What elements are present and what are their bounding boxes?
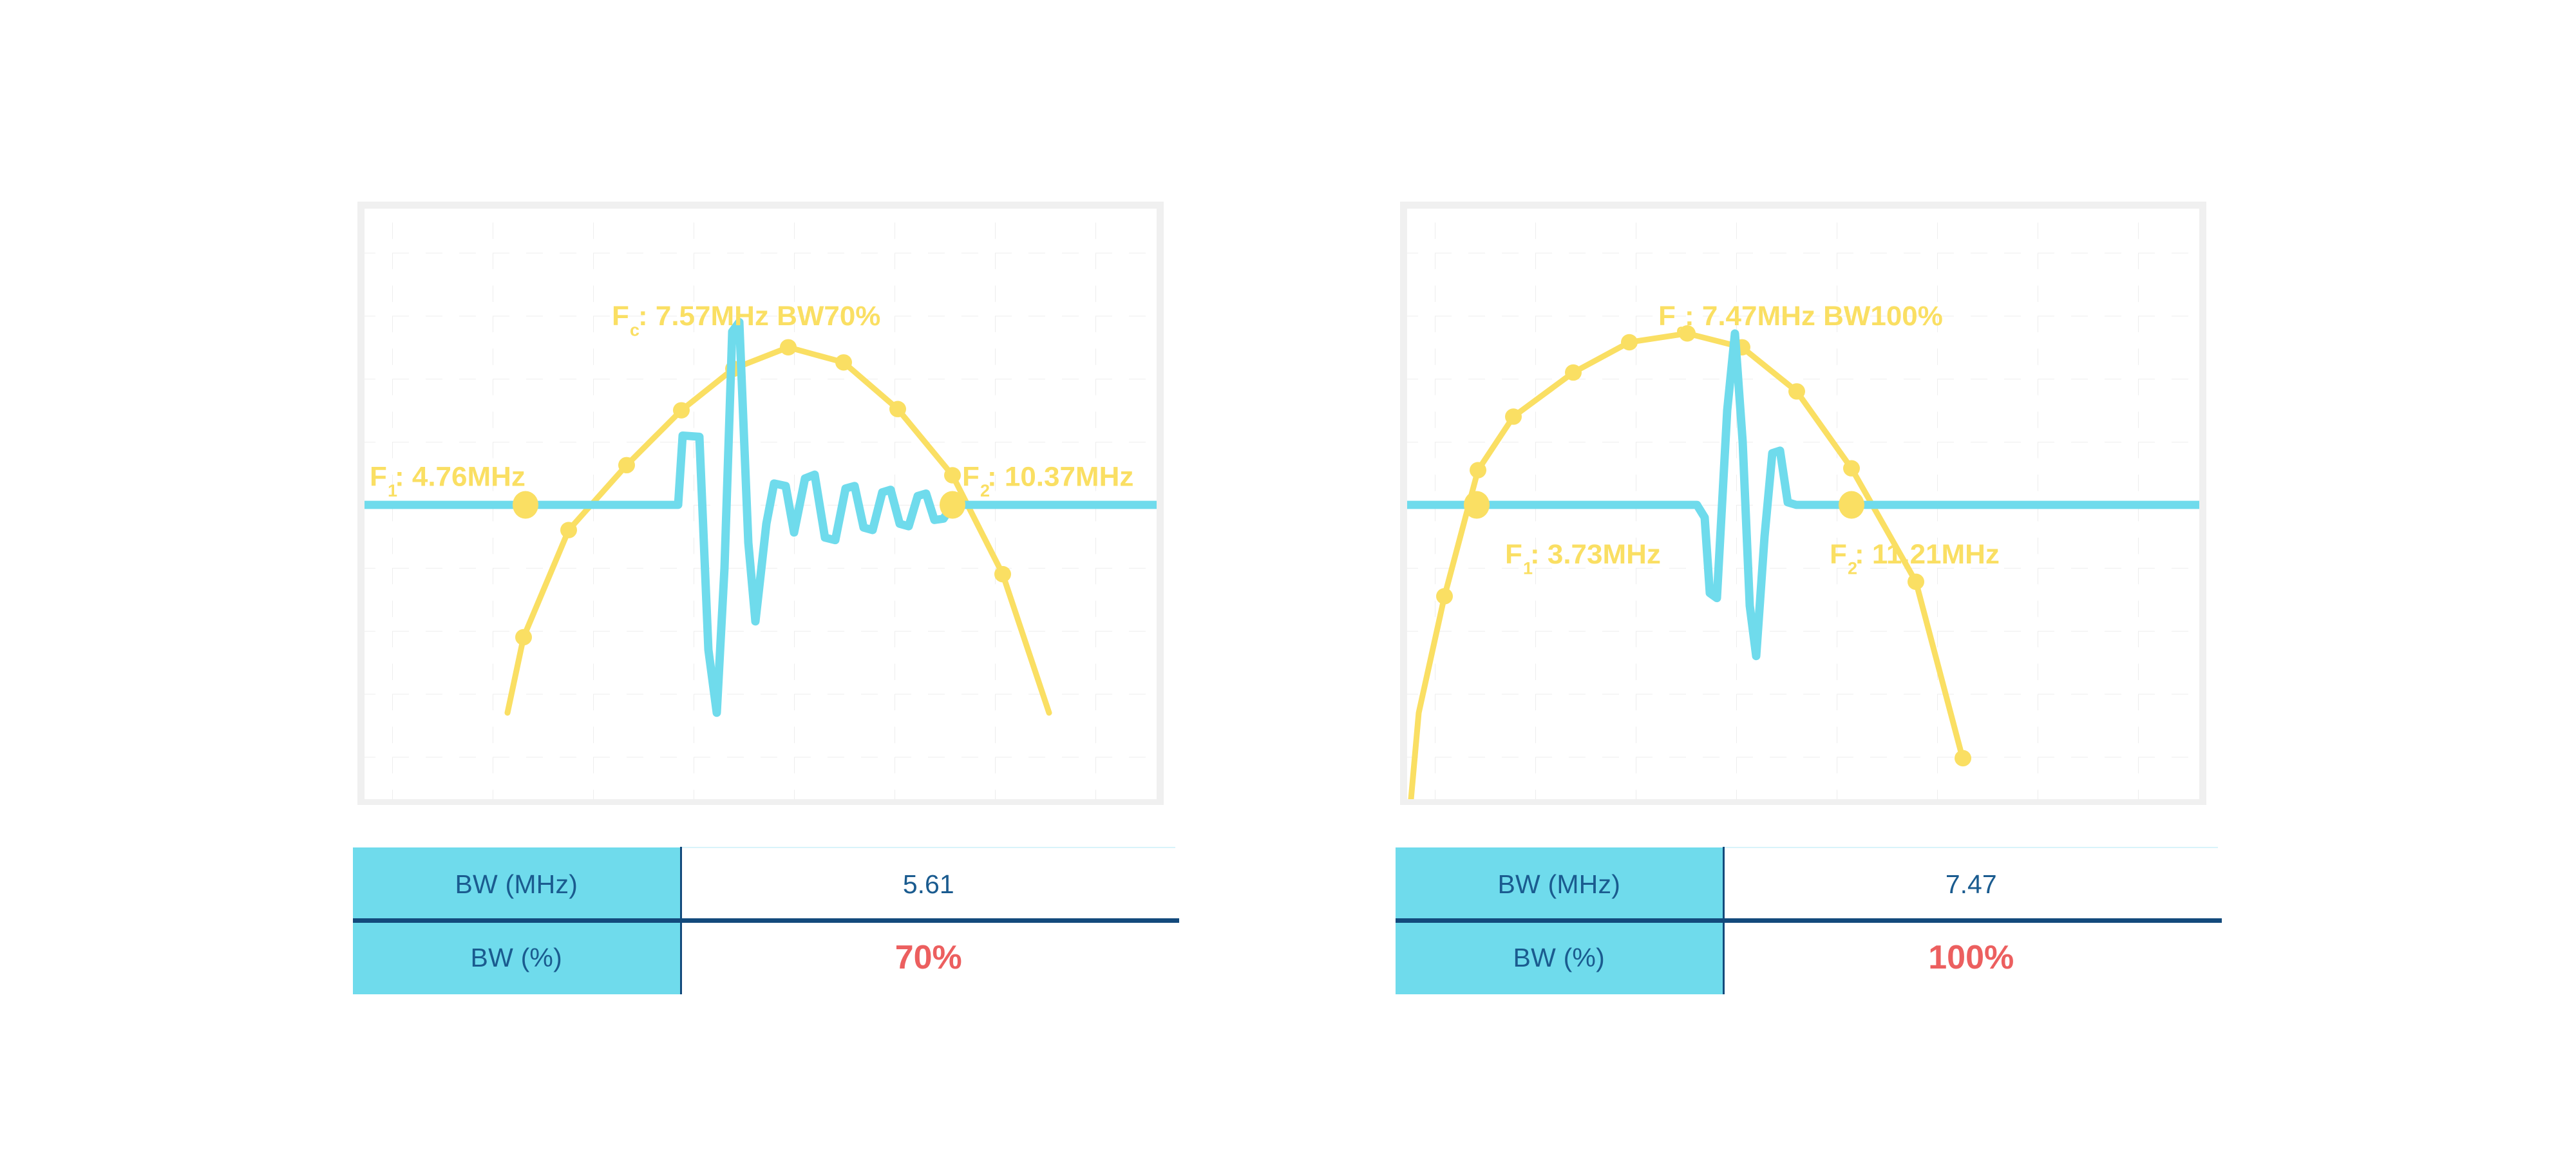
annotation-f1-symbol-right: F — [1505, 539, 1522, 569]
chart-frame-left: F c : 7.57MHz BW70% F 1 : 4.76MHz F 2 : … — [357, 202, 1164, 805]
table-row: BW (MHz) 5.61 — [353, 847, 1175, 921]
bw-pct-value-left: 70% — [681, 921, 1175, 994]
annotation-center-text-right: : 7.47MHz BW100% — [1685, 301, 1943, 331]
annotation-f1-text-right: : 3.73MHz — [1530, 539, 1661, 569]
bandwidth-panel-left: F c : 7.57MHz BW70% F 1 : 4.76MHz F 2 : … — [357, 202, 1164, 805]
bw-pct-label-right: BW (%) — [1396, 921, 1723, 994]
annotation-f2-symbol-right: F — [1830, 539, 1847, 569]
annotation-f2-symbol-left: F — [962, 462, 980, 492]
bw-mhz-label-right: BW (MHz) — [1396, 847, 1723, 921]
f2-marker — [940, 491, 965, 518]
bw-pct-label-left: BW (%) — [353, 921, 681, 994]
annotation-center-text-left: : 7.57MHz BW70% — [638, 301, 880, 331]
annotation-f1-text-left: : 4.76MHz — [395, 462, 526, 492]
bw-pct-value-right: 100% — [1723, 921, 2218, 994]
f1-marker — [1464, 491, 1490, 518]
table-divider-left — [353, 918, 1179, 923]
bw-mhz-value-left: 5.61 — [681, 847, 1175, 921]
annotation-f2-text-left: : 10.37MHz — [987, 462, 1133, 492]
table-row: BW (MHz) 7.47 — [1396, 847, 2218, 921]
chart-plot-left: F c : 7.57MHz BW70% F 1 : 4.76MHz F 2 : … — [365, 209, 1157, 799]
bw-mhz-value-right: 7.47 — [1723, 847, 2218, 921]
chart-frame-right: F c : 7.47MHz BW100% F 1 : 3.73MHz F 2 :… — [1400, 202, 2206, 805]
f1-marker — [513, 491, 538, 518]
bw-mhz-label-left: BW (MHz) — [353, 847, 681, 921]
table-divider-right — [1396, 918, 2222, 923]
page-root: F c : 7.57MHz BW70% F 1 : 4.76MHz F 2 : … — [0, 0, 2576, 1154]
annotation-f2-text-right: : 11.21MHz — [1855, 539, 2000, 569]
table-row: BW (%) 100% — [1396, 921, 2218, 994]
annotation-f1-symbol-left: F — [370, 462, 387, 492]
table-row: BW (%) 70% — [353, 921, 1175, 994]
bandwidth-panel-right: F c : 7.47MHz BW100% F 1 : 3.73MHz F 2 :… — [1400, 202, 2206, 805]
spectrum-chart-left: F c : 7.57MHz BW70% F 1 : 4.76MHz F 2 : … — [365, 209, 1157, 799]
f2-marker — [1839, 491, 1864, 518]
annotation-center-symbol-right: F — [1658, 301, 1676, 331]
annotation-center-symbol-left: F — [612, 301, 629, 331]
chart-plot-right: F c : 7.47MHz BW100% F 1 : 3.73MHz F 2 :… — [1407, 209, 2199, 799]
spectrum-chart-right: F c : 7.47MHz BW100% F 1 : 3.73MHz F 2 :… — [1407, 209, 2199, 799]
